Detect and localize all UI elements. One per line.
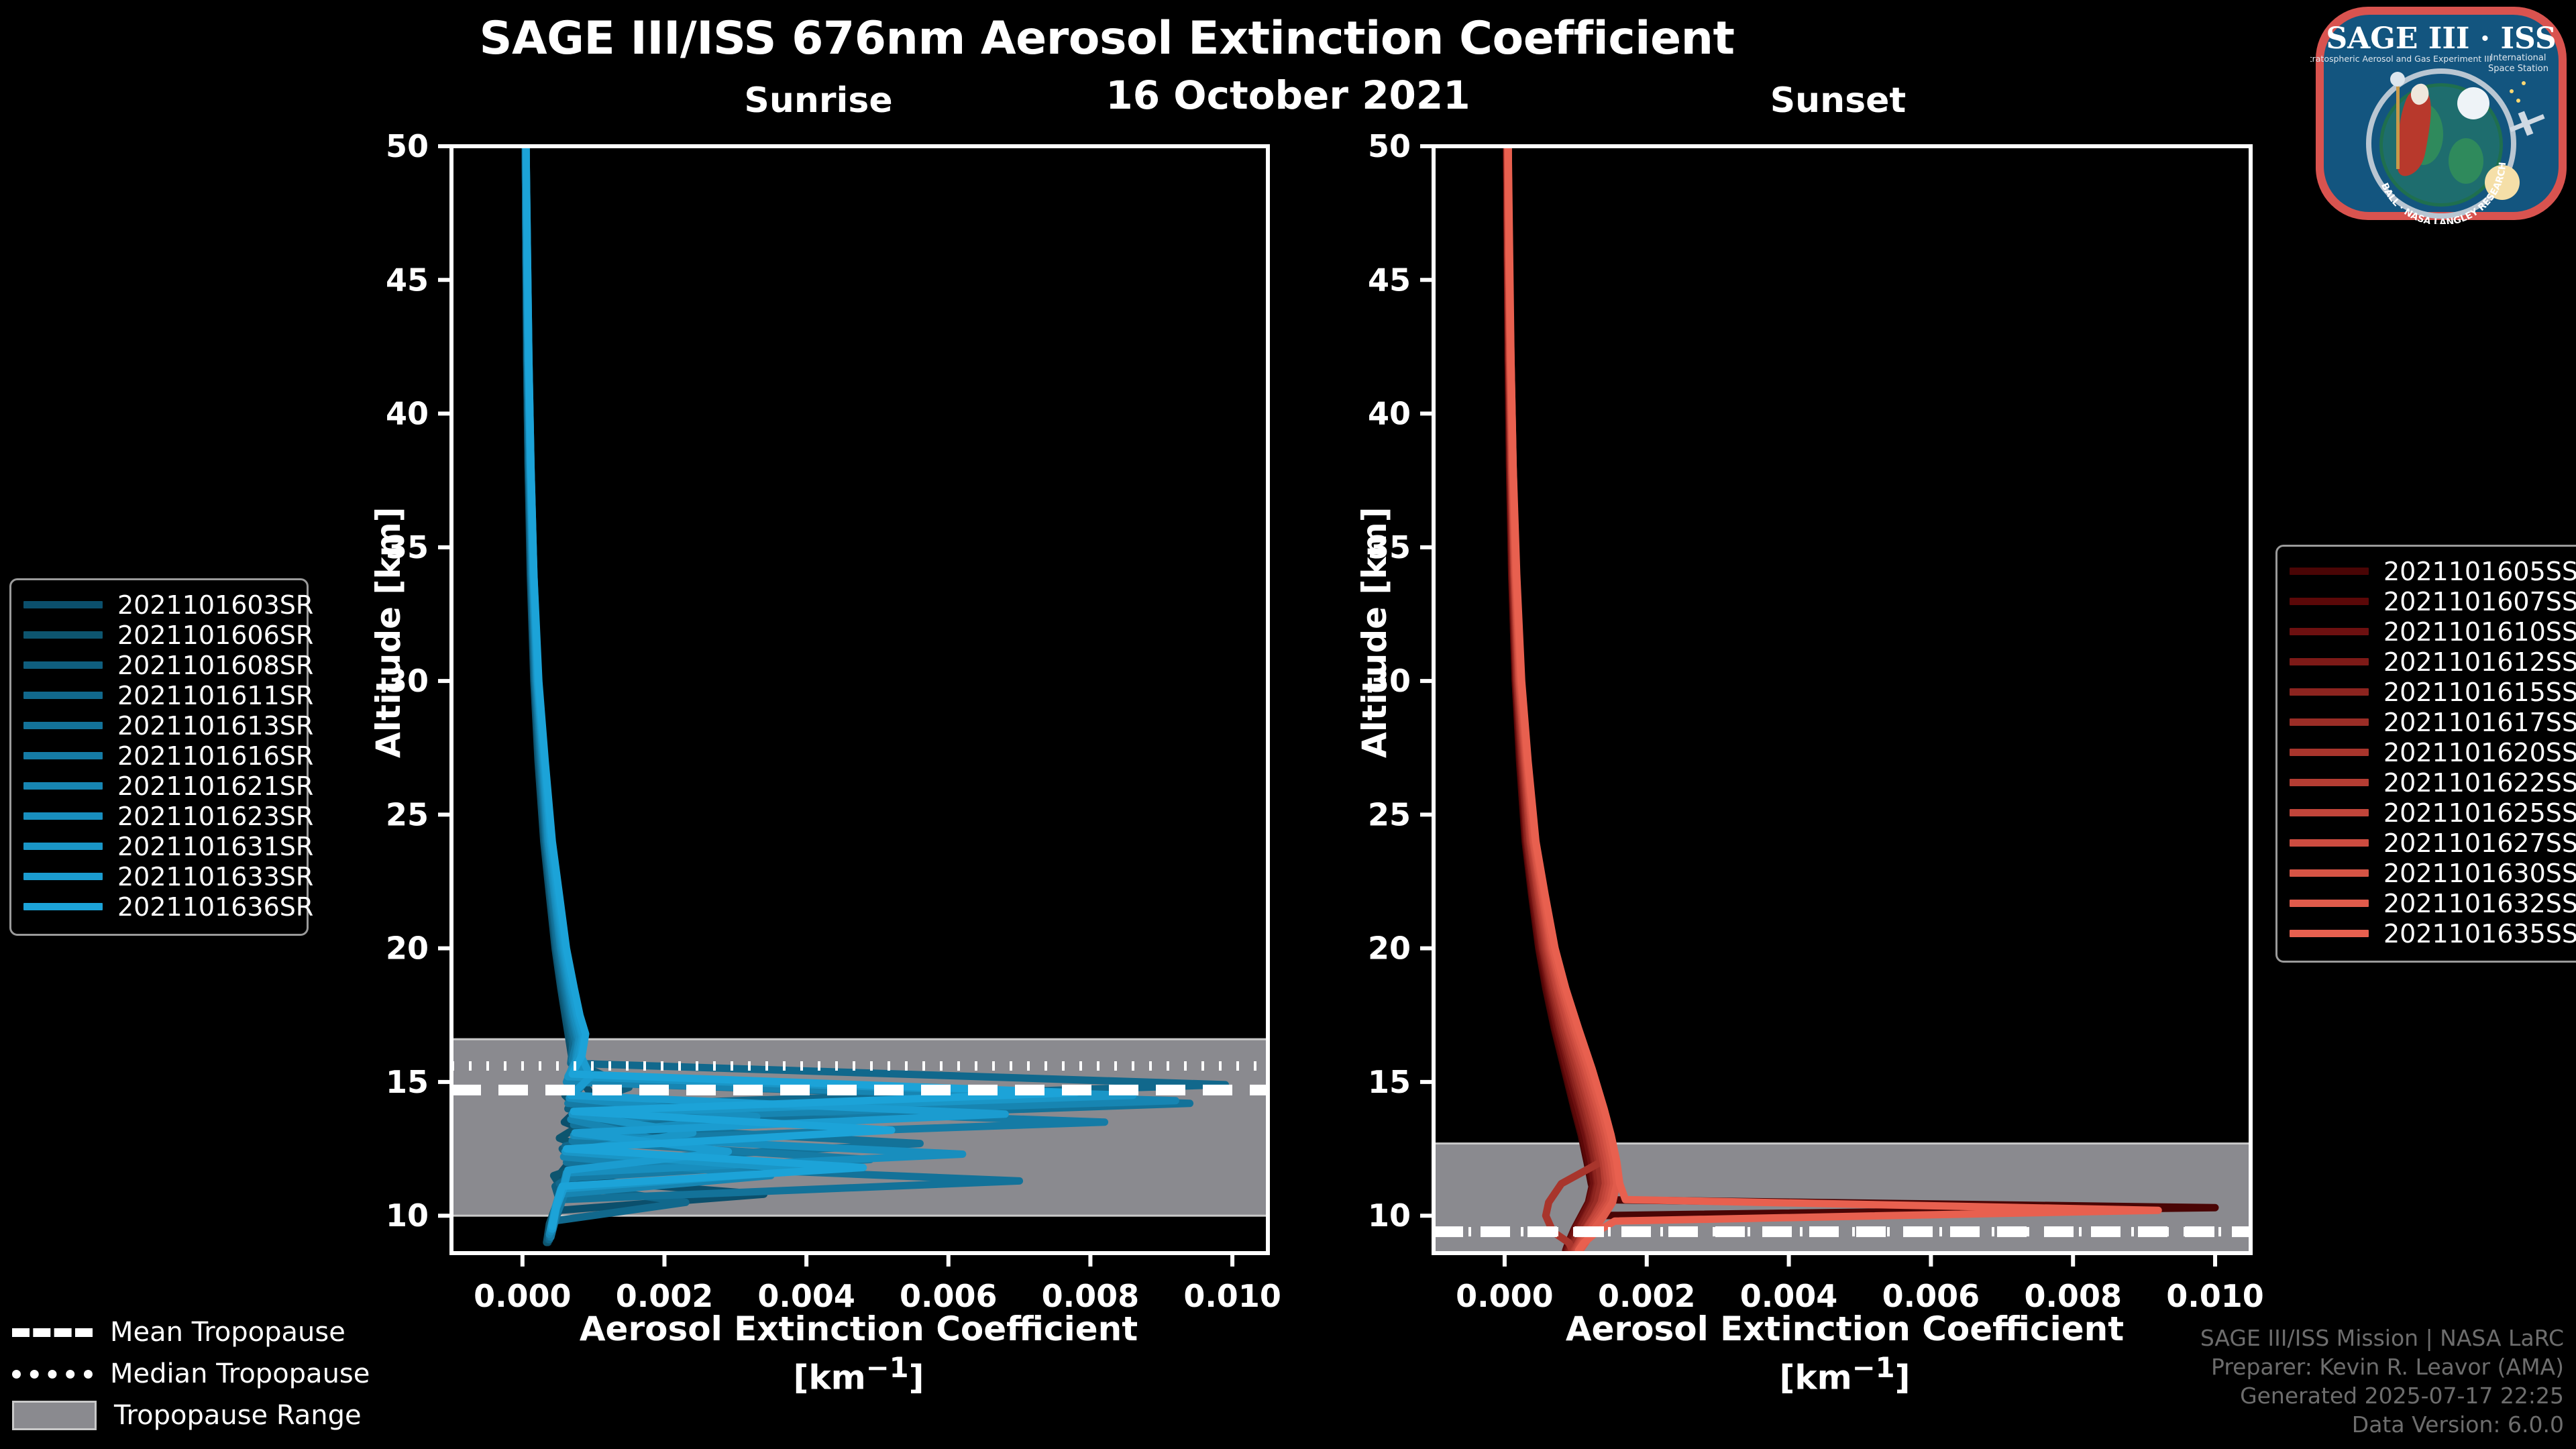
legend-swatch-icon [2290,568,2369,575]
legend-label: 2021101617SS [2383,708,2576,737]
sage-iii-iss-logo: SAGE III · ISSStratospheric Aerosol and … [2310,3,2572,224]
legend-swatch-icon [23,903,103,910]
logo-title: SAGE III · ISS [2326,21,2556,56]
legend-item-2021101623sr[interactable]: 2021101623SR [23,801,294,831]
tropopause-legend-item-dotted[interactable]: Median Tropopause [12,1353,388,1395]
legend-item-2021101606sr[interactable]: 2021101606SR [23,620,294,650]
legend-label: 2021101635SS [2383,919,2576,949]
legend-swatch-icon [2290,628,2369,635]
legend-item-2021101617ss[interactable]: 2021101617SS [2290,707,2574,737]
legend-label: 2021101611SR [117,681,313,710]
y-tick-label: 25 [386,796,429,833]
legend-label: 2021101613SR [117,711,313,741]
legend-label: 2021101616SR [117,741,313,771]
legend-label: 2021101603SR [117,590,313,620]
legend-label: 2021101622SS [2383,768,2576,798]
y-tick-label: 15 [1368,1064,1411,1100]
legend-label: 2021101615SS [2383,678,2576,707]
legend-swatch-icon [2290,779,2369,786]
legend-swatch-icon [23,692,103,699]
tropopause-legend-label: Mean Tropopause [110,1317,345,1348]
legend-swatch-icon [2290,930,2369,937]
logo-subtitle-right-2: Space Station [2488,64,2548,74]
x-axis-label-right-line2: [km−1] [1476,1350,2214,1399]
legend-sunrise[interactable]: 2021101603SR2021101606SR2021101608SR2021… [9,578,309,936]
legend-swatch-icon [23,843,103,850]
x-axis-label-right-line1: Aerosol Extinction Coefficient [1476,1308,2214,1350]
legend-item-2021101615ss[interactable]: 2021101615SS [2290,677,2574,707]
tropopause-legend-label: Tropopause Range [114,1400,362,1431]
legend-item-2021101627ss[interactable]: 2021101627SS [2290,828,2574,858]
x-axis-label-right: Aerosol Extinction Coefficient [km−1] [1476,1308,2214,1399]
x-axis-label-left-line2: [km−1] [490,1350,1228,1399]
legend-swatch-icon [23,812,103,820]
legend-swatch-icon [23,661,103,669]
legend-item-2021101636sr[interactable]: 2021101636SR [23,892,294,922]
tropopause-legend-label: Median Tropopause [110,1358,370,1389]
legend-item-2021101612ss[interactable]: 2021101612SS [2290,647,2574,677]
y-tick-label: 45 [386,262,429,298]
legend-swatch-icon [2290,658,2369,665]
y-tick-label: 40 [386,396,429,432]
credits-line-mission: SAGE III/ISS Mission | NASA LaRC [2200,1324,2564,1353]
legend-label: 2021101605SS [2383,557,2576,586]
y-tick-label: 20 [1368,930,1411,967]
legend-item-2021101611sr[interactable]: 2021101611SR [23,680,294,710]
legend-item-2021101603sr[interactable]: 2021101603SR [23,590,294,620]
legend-label: 2021101633SR [117,862,313,892]
legend-swatch-icon [2290,869,2369,877]
legend-item-2021101605ss[interactable]: 2021101605SS [2290,556,2574,586]
legend-item-2021101630ss[interactable]: 2021101630SS [2290,858,2574,888]
legend-label: 2021101607SS [2383,587,2576,616]
legend-label: 2021101636SR [117,892,313,922]
legend-item-2021101633sr[interactable]: 2021101633SR [23,861,294,892]
legend-label: 2021101625SS [2383,798,2576,828]
y-tick-label: 25 [1368,796,1411,833]
legend-label: 2021101623SR [117,802,313,831]
band-line-icon [12,1401,97,1430]
profile-line-2021101635ss [1508,146,2158,1250]
legend-item-2021101631sr[interactable]: 2021101631SR [23,831,294,861]
legend-item-2021101620ss[interactable]: 2021101620SS [2290,737,2574,767]
legend-label: 2021101632SS [2383,889,2576,918]
y-axis-label-left: Altitude [km] [369,506,408,758]
legend-item-2021101608sr[interactable]: 2021101608SR [23,650,294,680]
y-tick-label: 10 [386,1197,429,1234]
legend-swatch-icon [23,601,103,608]
y-tick-label: 40 [1368,396,1411,432]
credits-line-version: Data Version: 6.0.0 [2200,1411,2564,1440]
legend-swatch-icon [23,631,103,639]
y-tick-label: 20 [386,930,429,967]
legend-item-2021101610ss[interactable]: 2021101610SS [2290,616,2574,647]
legend-item-2021101616sr[interactable]: 2021101616SR [23,741,294,771]
legend-swatch-icon [2290,598,2369,605]
credits-line-generated: Generated 2025-07-17 22:25 [2200,1382,2564,1411]
dashed-line-icon [12,1328,93,1337]
legend-label: 2021101610SS [2383,617,2576,647]
x-axis-label-left-line1: Aerosol Extinction Coefficient [490,1308,1228,1350]
legend-label: 2021101620SS [2383,738,2576,767]
legend-tropopause[interactable]: Mean TropopauseMedian TropopauseTropopau… [12,1311,388,1436]
legend-swatch-icon [2290,688,2369,696]
tropopause-legend-item-dashed[interactable]: Mean Tropopause [12,1311,388,1353]
legend-item-2021101622ss[interactable]: 2021101622SS [2290,767,2574,798]
legend-item-2021101621sr[interactable]: 2021101621SR [23,771,294,801]
legend-swatch-icon [2290,718,2369,726]
legend-swatch-icon [2290,809,2369,816]
dotted-line-icon [12,1370,93,1379]
legend-label: 2021101627SS [2383,828,2576,858]
y-axis-label-right: Altitude [km] [1355,506,1394,758]
panel-sunset: 0.0000.0020.0040.0060.0080.0101015202530… [1368,128,2264,1314]
legend-swatch-icon [2290,900,2369,907]
legend-label: 2021101630SS [2383,859,2576,888]
y-tick-label: 45 [1368,262,1411,298]
legend-swatch-icon [2290,839,2369,847]
legend-label: 2021101621SR [117,771,313,801]
legend-swatch-icon [23,873,103,880]
x-axis-label-left: Aerosol Extinction Coefficient [km−1] [490,1308,1228,1399]
y-tick-label: 15 [386,1064,429,1100]
legend-swatch-icon [2290,749,2369,756]
plot-frame [1434,146,2251,1253]
legend-label: 2021101608SR [117,651,313,680]
logo-subtitle-left: Stratospheric Aerosol and Gas Experiment… [2310,54,2491,64]
credits-block: SAGE III/ISS Mission | NASA LaRC Prepare… [2200,1324,2564,1440]
legend-label: 2021101606SR [117,621,313,650]
y-tick-label: 50 [1368,128,1411,164]
credits-line-preparer: Preparer: Kevin R. Leavor (AMA) [2200,1353,2564,1382]
logo-subtitle-right-1: International [2491,53,2546,63]
legend-sunset[interactable]: 2021101605SS2021101607SS2021101610SS2021… [2275,545,2576,963]
legend-swatch-icon [23,722,103,729]
legend-label: 2021101631SR [117,832,313,861]
legend-item-2021101613sr[interactable]: 2021101613SR [23,710,294,741]
legend-item-2021101625ss[interactable]: 2021101625SS [2290,798,2574,828]
legend-swatch-icon [23,782,103,790]
legend-item-2021101632ss[interactable]: 2021101632SS [2290,888,2574,918]
y-tick-label: 50 [386,128,429,164]
tropopause-legend-item-band[interactable]: Tropopause Range [12,1395,388,1436]
profile-line-2021101605ss [1507,146,2215,1237]
legend-label: 2021101612SS [2383,647,2576,677]
panel-sunrise: 0.0000.0020.0040.0060.0080.0101015202530… [386,128,1281,1314]
legend-swatch-icon [23,752,103,759]
legend-item-2021101635ss[interactable]: 2021101635SS [2290,918,2574,949]
legend-item-2021101607ss[interactable]: 2021101607SS [2290,586,2574,616]
y-tick-label: 10 [1368,1197,1411,1234]
